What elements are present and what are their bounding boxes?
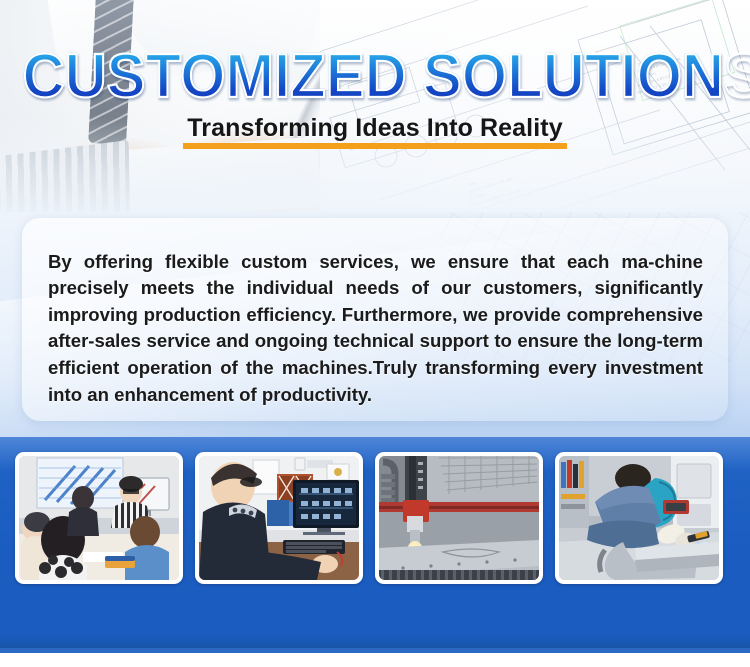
description-section: By offering flexible custom services, we…	[0, 212, 750, 437]
laptop-keyboard-shape	[0, 140, 130, 212]
svg-text:E7-22V-T12414-2.75-160: E7-22V-T12414-2.75-160	[469, 177, 514, 194]
photo-engineer-cad-workstation	[199, 456, 359, 580]
photo-welder-at-work	[559, 456, 719, 580]
page-title: CUSTOMIZED SOLUTIONS	[23, 46, 728, 108]
photo-frame-3[interactable]	[375, 452, 543, 584]
photo-strip-section	[0, 437, 750, 652]
photo-cnc-laser-cutting	[379, 456, 539, 580]
hero-subtitle-container: Transforming Ideas Into Reality	[0, 114, 750, 149]
photo-strip-list	[15, 452, 735, 584]
marketing-banner-page: 2966 STL-123-430-22/01-1094 LG-2.2T/m 6A…	[0, 0, 750, 667]
subtitle-underline-bar	[183, 143, 566, 149]
hero-section: 2966 STL-123-430-22/01-1094 LG-2.2T/m 6A…	[0, 0, 750, 212]
svg-text:R/6: R/6	[469, 181, 477, 187]
photo-frame-2[interactable]	[195, 452, 363, 584]
page-subtitle-text: Transforming Ideas Into Reality	[187, 114, 562, 142]
photo-frame-4[interactable]	[555, 452, 723, 584]
photo-frame-1[interactable]	[15, 452, 183, 584]
photo-team-training-meeting	[19, 456, 179, 580]
page-subtitle: Transforming Ideas Into Reality	[183, 114, 566, 149]
page-footer-spacer	[0, 653, 750, 667]
description-paragraph: By offering flexible custom services, we…	[48, 249, 703, 409]
